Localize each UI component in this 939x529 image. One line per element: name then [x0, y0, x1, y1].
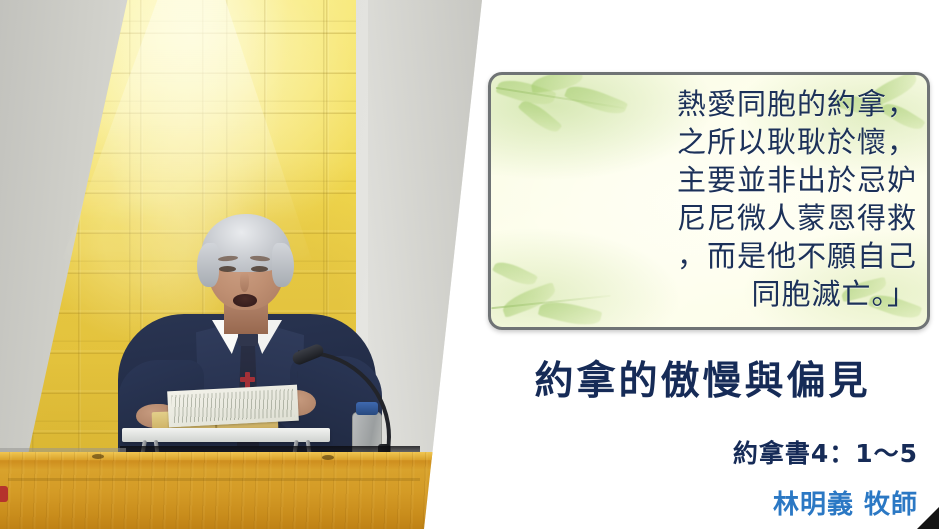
wooden-pulpit [0, 452, 436, 529]
cross-icon-bar [240, 377, 255, 382]
glass-lectern-top [122, 428, 330, 442]
speaker-name: 林明義 牧師 [773, 484, 918, 521]
pulpit-cable-hole [92, 454, 104, 459]
eye-left [219, 266, 236, 272]
water-bottle-cap [356, 402, 378, 415]
hair-side-right [272, 243, 294, 287]
live-video-pane[interactable] [0, 0, 482, 529]
mouth [233, 294, 257, 307]
foreground-red-object [0, 486, 8, 502]
page-corner-icon [917, 507, 939, 529]
scripture-reference: 約拿書4：1～5 [733, 434, 918, 470]
slide-pane: 熱愛同胞的約拿， 之所以耿耿於懷， 主要並非出於忌妒 尼尼微人蒙恩得救 ，而是他… [482, 0, 939, 529]
eye-right [251, 266, 268, 272]
page-title: 約拿的傲慢與偏見 [482, 350, 923, 406]
quote-text: 熱愛同胞的約拿， 之所以耿耿於懷， 主要並非出於忌妒 尼尼微人蒙恩得救 ，而是他… [521, 85, 917, 313]
nose [240, 272, 249, 292]
presentation-stage: 熱愛同胞的約拿， 之所以耿耿於懷， 主要並非出於忌妒 尼尼微人蒙恩得救 ，而是他… [0, 0, 939, 529]
wood-grain [0, 452, 436, 529]
quote-card: 熱愛同胞的約拿， 之所以耿耿於懷， 主要並非出於忌妒 尼尼微人蒙恩得救 ，而是他… [488, 72, 930, 330]
pulpit-reveal-line [8, 478, 420, 481]
paper-note-lines [171, 389, 294, 423]
hair-side-left [197, 243, 219, 287]
pulpit-cable-hole [322, 455, 334, 460]
paper-notes [167, 385, 299, 428]
necktie-knot [238, 332, 258, 346]
